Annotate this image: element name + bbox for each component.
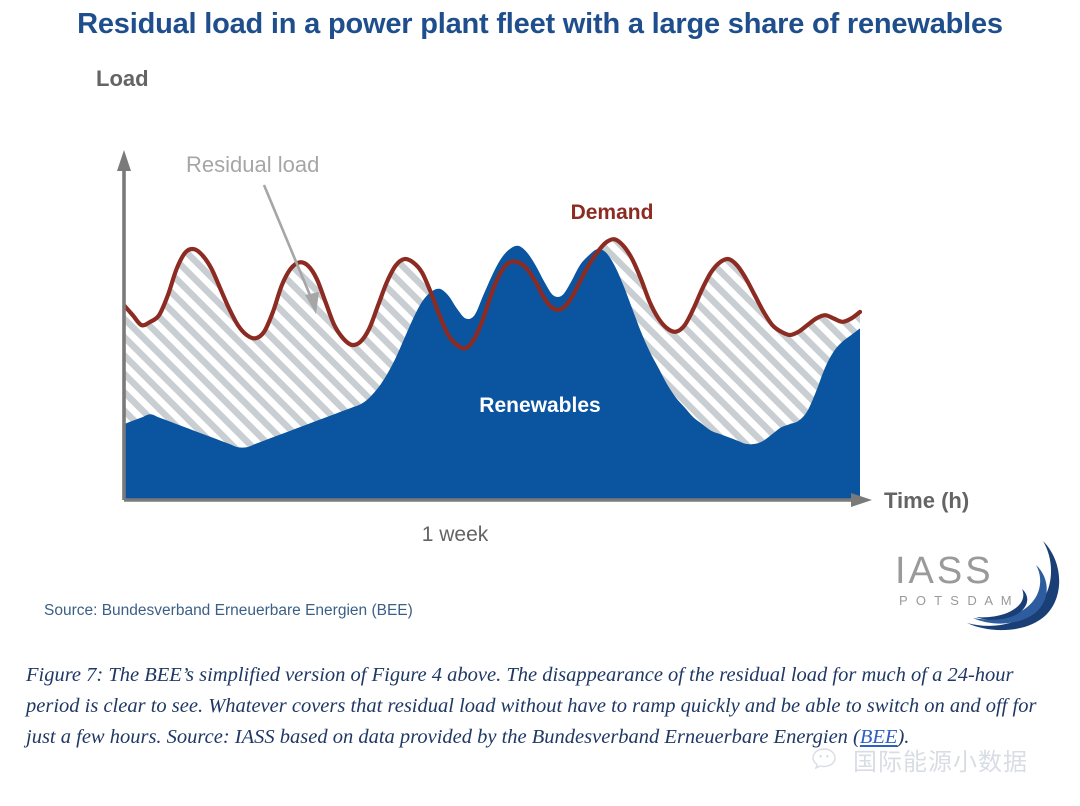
y-axis-arrow-icon [117,150,131,171]
page-title: Residual load in a power plant fleet wit… [0,8,1080,41]
x-axis-label: Time (h) [884,488,969,513]
y-axis-label: Load [96,66,149,91]
chart-svg: Load Time (h) 1 week Demand Renewables R… [0,52,1080,552]
iass-logo-subtitle: P O T S D A M [899,593,1014,608]
slide-root: Residual load in a power plant fleet wit… [0,0,1080,806]
residual-load-chart: Load Time (h) 1 week Demand Renewables R… [0,52,1080,552]
iass-logo: IASS P O T S D A M [893,535,1068,640]
figure-caption: Figure 7: The BEE’s simplified version o… [26,660,1050,753]
x-span-label: 1 week [422,523,489,546]
chart-source-note: Source: Bundesverband Erneuerbare Energi… [44,602,413,620]
renewables-label: Renewables [479,394,600,417]
bee-link[interactable]: BEE [860,726,898,748]
residual-load-annotation-label: Residual load [186,152,319,177]
x-axis-arrow-icon [851,493,872,507]
demand-label: Demand [571,201,654,224]
iass-logo-text: IASS [895,550,994,592]
figure-caption-tail: ). [897,726,909,748]
